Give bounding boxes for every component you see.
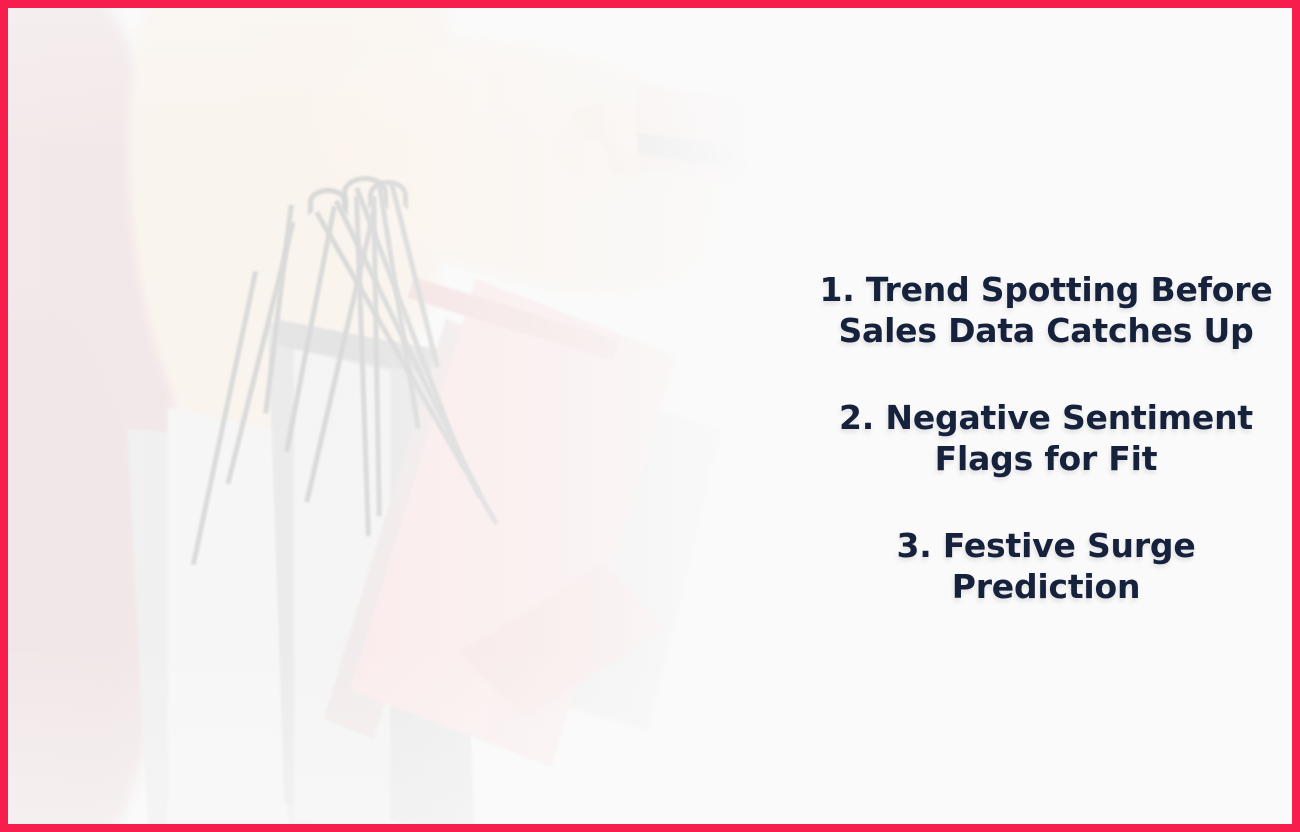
insight-list: 1. Trend Spotting Before Sales Data Catc… bbox=[800, 8, 1292, 824]
list-item-1: 1. Trend Spotting Before Sales Data Catc… bbox=[800, 270, 1292, 352]
slide-frame: 1. Trend Spotting Before Sales Data Catc… bbox=[0, 0, 1300, 832]
credit-card bbox=[636, 84, 747, 185]
shopping-bags-photo bbox=[8, 8, 768, 824]
slide-canvas: 1. Trend Spotting Before Sales Data Catc… bbox=[8, 8, 1292, 824]
list-item-3: 3. Festive Surge Prediction bbox=[800, 526, 1292, 608]
credit-card-magnetic-stripe bbox=[637, 132, 747, 170]
list-item-2: 2. Negative Sentiment Flags for Fit bbox=[800, 398, 1292, 480]
